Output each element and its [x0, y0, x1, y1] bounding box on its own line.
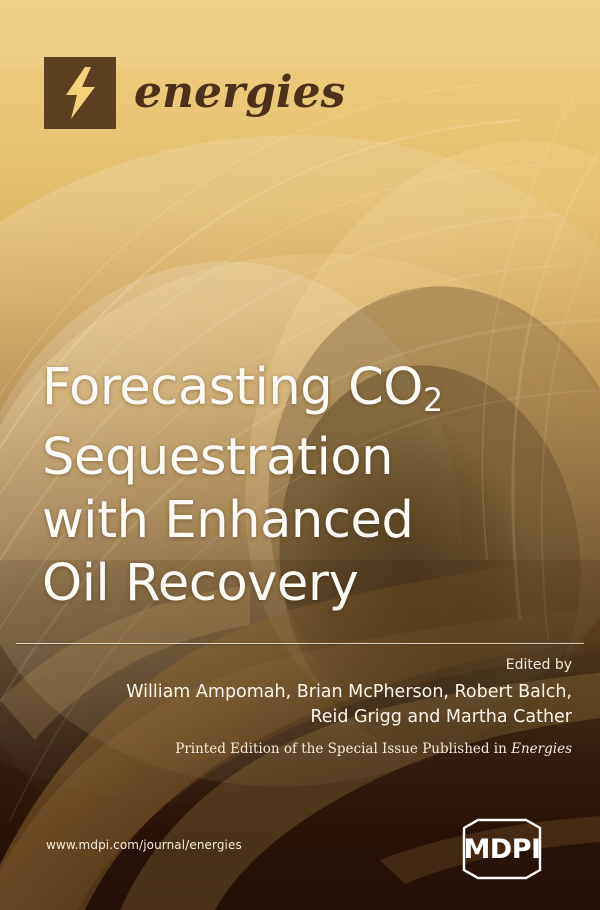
book-cover: energies Forecasting CO2 Sequestration w… [0, 0, 600, 910]
divider-line [16, 643, 584, 644]
journal-wordmark: energies [134, 71, 345, 115]
printed-edition-note: Printed Edition of the Special Issue Pub… [52, 740, 572, 759]
title-line-4: Oil Recovery [42, 552, 562, 615]
title-line-1-text: Forecasting CO [42, 358, 423, 417]
mdpi-wordmark: MDPI [463, 834, 540, 865]
credits-block: Edited by William Ampomah, Brian McPhers… [52, 656, 572, 759]
title-line-2: Sequestration [42, 426, 562, 489]
lightning-bolt-icon [60, 65, 100, 121]
title-subscript: 2 [423, 383, 443, 419]
logo-mark-box [44, 57, 116, 129]
title-line-1: Forecasting CO2 [42, 356, 562, 426]
edited-by-label: Edited by [52, 656, 572, 675]
journal-logo: energies [44, 57, 345, 129]
mdpi-logo[interactable]: MDPI [448, 818, 556, 880]
page-title: Forecasting CO2 Sequestration with Enhan… [42, 356, 562, 615]
printed-edition-journal: Energies [511, 741, 572, 757]
title-line-3: with Enhanced [42, 489, 562, 552]
printed-edition-prefix: Printed Edition of the Special Issue Pub… [175, 741, 511, 757]
editor-line-1: William Ampomah, Brian McPherson, Robert… [52, 680, 572, 705]
journal-url[interactable]: www.mdpi.com/journal/energies [46, 838, 242, 852]
editor-line-2: Reid Grigg and Martha Cather [52, 705, 572, 730]
